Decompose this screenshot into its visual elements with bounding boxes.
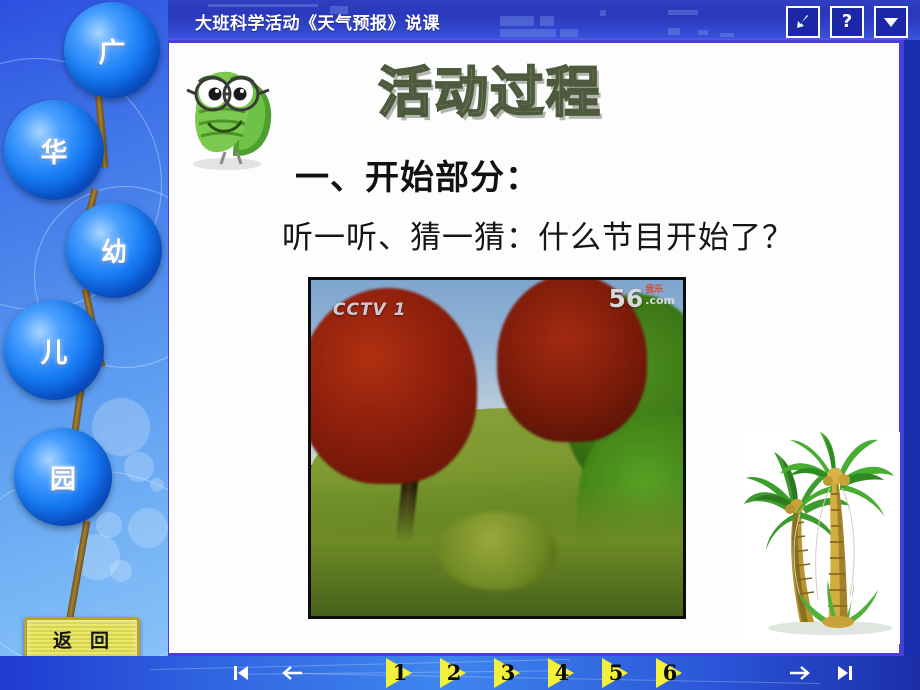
page-number: 4 [551,662,573,684]
dropdown-button[interactable] [874,6,908,38]
back-arrow-icon [794,13,812,31]
palm-tree-image [738,432,900,644]
presentation-title: 大班科学活动《天气预报》说课 [195,9,440,34]
sidebar-bubble-label: 儿 [41,331,68,370]
sidebar-bubble-2[interactable]: 华 [4,100,104,200]
page-number: 6 [659,662,681,684]
page-button-4[interactable]: 4 [548,658,584,688]
last-slide-icon [834,664,854,682]
help-button[interactable]: ? [830,6,864,38]
page-button-1[interactable]: 1 [386,658,422,688]
left-arrow-icon [281,664,305,682]
return-label-1: 返 [53,626,74,653]
sidebar-bubble-label: 华 [41,131,68,170]
first-slide-icon [232,664,252,682]
triangle-down-icon [882,15,900,29]
question-mark-icon: ? [842,13,852,31]
right-arrow-icon [787,664,811,682]
return-button[interactable]: 返 回 [24,617,140,661]
caterpillar-mascot-icon [175,52,280,172]
sidebar-bubble-label: 广 [99,31,126,70]
previous-slide-button[interactable] [280,662,306,684]
page-button-6[interactable]: 6 [656,658,692,688]
video-thumbnail[interactable]: CCTV 1 56 我乐 .com [308,277,686,619]
page-button-3[interactable]: 3 [494,658,530,688]
page-number: 3 [497,662,519,684]
sidebar-bubble-3[interactable]: 幼 [66,202,162,298]
sidebar-bubble-label: 幼 [101,232,127,269]
window-controls: ? [786,6,908,38]
back-arrow-button[interactable] [786,6,820,38]
page-number: 5 [605,662,627,684]
sidebar-bubble-4[interactable]: 儿 [4,300,104,400]
first-slide-button[interactable] [230,662,254,684]
sidebar-bubble-1[interactable]: 广 [64,2,160,98]
activity-prompt-text: 听一听、猜一猜：什么节目开始了？ [282,212,794,257]
video-bush [437,512,557,590]
bottom-navigation-bar: 1 2 3 4 5 6 [0,656,920,690]
page-number: 1 [389,662,411,684]
site-watermark-sub: 我乐 .com [645,286,675,306]
next-slide-button[interactable] [786,662,812,684]
sidebar-bubble-5[interactable]: 园 [14,428,112,526]
slide-stage: 广 华 幼 儿 园 返 回 [0,0,920,690]
sidebar-bubble-label: 园 [50,459,76,496]
site-watermark: 56 我乐 .com [608,286,675,311]
page-button-2[interactable]: 2 [440,658,476,688]
last-slide-button[interactable] [832,662,856,684]
section-subheading: 一、开始部分： [295,150,540,199]
left-sidebar: 广 华 幼 儿 园 返 回 [0,0,168,690]
site-watermark-com: .com [645,295,675,306]
return-label-2: 回 [90,626,111,653]
page-number: 2 [443,662,465,684]
page-button-5[interactable]: 5 [602,658,638,688]
site-watermark-number: 56 [608,286,643,311]
page-title: 活动过程 [378,66,602,120]
cctv-watermark: CCTV 1 [333,300,406,320]
